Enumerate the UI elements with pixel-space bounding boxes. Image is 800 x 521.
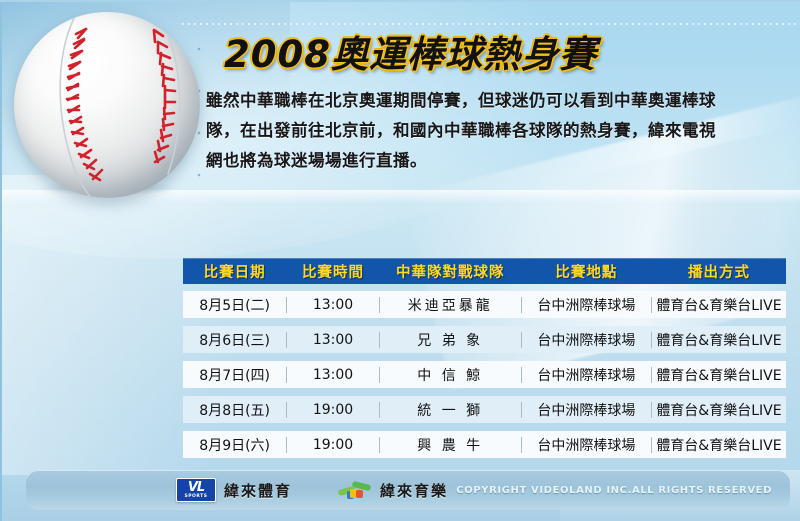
cell-broadcast: 體育台&育樂台LIVE	[652, 295, 786, 315]
cell-time: 19:00	[287, 437, 378, 453]
intro-line-3: 網也將為球迷場場進行直播。	[206, 146, 790, 176]
cell-date: 8月8日(五)	[183, 400, 286, 420]
cell-venue: 台中洲際棒球場	[522, 295, 651, 315]
brand-videoland-sports[interactable]: VL SPORTS 緯來體育	[176, 478, 292, 502]
column-header-time: 比賽時間	[287, 261, 378, 282]
videoland-sports-logo-icon: VL SPORTS	[176, 478, 216, 502]
table-header-row: 比賽日期 比賽時間 中華隊對戰球隊 比賽地點 播出方式	[183, 258, 786, 284]
copyright-text: COPYRIGHT VIDEOLAND INC.ALL RIGHTS RESER…	[456, 485, 772, 496]
brand-sports-label: 緯來體育	[224, 480, 292, 501]
intro-line-1: 雖然中華職棒在北京奧運期間停賽，但球迷仍可以看到中華奧運棒球	[206, 86, 790, 116]
column-header-venue: 比賽地點	[522, 261, 651, 282]
cell-date: 8月6日(三)	[183, 330, 286, 350]
cell-time: 19:00	[287, 402, 378, 418]
cell-opponent: 中 信 鯨	[380, 365, 521, 385]
intro-paragraph: 雖然中華職棒在北京奧運期間停賽，但球迷仍可以看到中華奧運棒球 隊，在出發前往北京…	[206, 86, 790, 176]
table-row[interactable]: 8月5日(二) 13:00 米迪亞暴龍 台中洲際棒球場 體育台&育樂台LIVE	[183, 291, 786, 318]
cell-broadcast: 體育台&育樂台LIVE	[652, 365, 786, 385]
baseball-sphere	[14, 12, 200, 198]
cell-time: 13:00	[287, 297, 378, 313]
table-row[interactable]: 8月6日(三) 13:00 兄 弟 象 台中洲際棒球場 體育台&育樂台LIVE	[183, 326, 786, 353]
cell-opponent: 統 一 獅	[380, 400, 521, 420]
cell-date: 8月9日(六)	[183, 435, 286, 455]
cell-date: 8月7日(四)	[183, 365, 286, 385]
vl-mark-text: VL	[188, 481, 204, 494]
cell-opponent: 兄 弟 象	[380, 330, 521, 350]
table-row[interactable]: 8月9日(六) 19:00 興 農 牛 台中洲際棒球場 體育台&育樂台LIVE	[183, 431, 786, 458]
cell-time: 13:00	[287, 367, 378, 383]
cell-date: 8月5日(二)	[183, 295, 286, 315]
schedule-table: 比賽日期 比賽時間 中華隊對戰球隊 比賽地點 播出方式 8月5日(二) 13:0…	[183, 258, 786, 466]
table-row[interactable]: 8月7日(四) 13:00 中 信 鯨 台中洲際棒球場 體育台&育樂台LIVE	[183, 361, 786, 388]
cell-opponent: 米迪亞暴龍	[380, 295, 521, 315]
brand-entertainment-label: 緯來育樂	[380, 480, 448, 501]
promo-page: 2008奧運棒球熱身賽 雖然中華職棒在北京奧運期間停賽，但球迷仍可以看到中華奧運…	[0, 0, 800, 521]
videoland-entertainment-bird-icon	[338, 479, 372, 501]
cell-venue: 台中洲際棒球場	[522, 365, 651, 385]
brand-videoland-entertainment[interactable]: 緯來育樂	[338, 479, 448, 501]
intro-line-2: 隊，在出發前往北京前，和國內中華職棒各球隊的熱身賽，緯來電視	[206, 116, 790, 146]
cell-broadcast: 體育台&育樂台LIVE	[652, 435, 786, 455]
table-row[interactable]: 8月8日(五) 19:00 統 一 獅 台中洲際棒球場 體育台&育樂台LIVE	[183, 396, 786, 423]
cell-broadcast: 體育台&育樂台LIVE	[652, 400, 786, 420]
vl-mark-subtext: SPORTS	[185, 495, 208, 500]
column-header-broadcast: 播出方式	[652, 261, 786, 282]
page-title: 2008奧運棒球熱身賽	[224, 24, 597, 78]
cell-broadcast: 體育台&育樂台LIVE	[652, 330, 786, 350]
column-header-date: 比賽日期	[183, 261, 286, 282]
column-header-opponent: 中華隊對戰球隊	[380, 261, 521, 282]
cell-venue: 台中洲際棒球場	[522, 330, 651, 350]
footer-bar: VL SPORTS 緯來體育 緯來育樂 COPYRIGHT VIDEOLAND …	[26, 470, 790, 510]
cell-time: 13:00	[287, 332, 378, 348]
cell-venue: 台中洲際棒球場	[522, 435, 651, 455]
baseball-icon	[14, 12, 200, 198]
cell-venue: 台中洲際棒球場	[522, 400, 651, 420]
cell-opponent: 興 農 牛	[380, 435, 521, 455]
